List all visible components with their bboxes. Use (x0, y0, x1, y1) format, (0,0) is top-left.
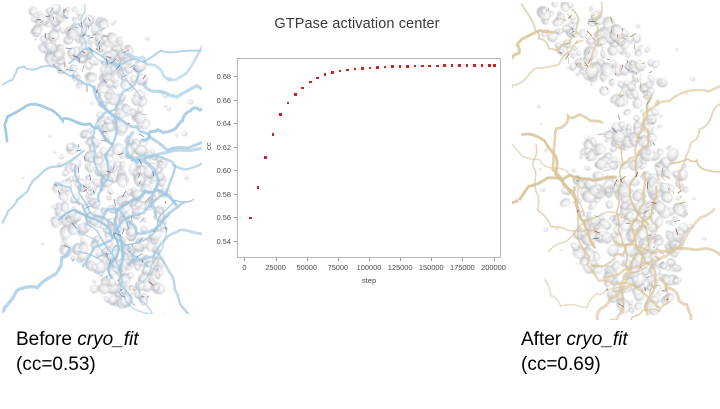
x-tick-label: 200000 (472, 263, 516, 272)
data-point (436, 65, 439, 68)
data-point (272, 133, 275, 136)
cryoem-density-map-after (512, 2, 720, 320)
data-point (406, 65, 409, 68)
data-point (361, 67, 364, 70)
density-blobs (535, 2, 707, 317)
data-point (391, 65, 394, 68)
data-point (249, 217, 252, 220)
y-tick-label: 0.60 (206, 166, 231, 175)
data-point (331, 71, 334, 74)
data-point (473, 64, 476, 67)
caption-before-prefix: Before (16, 329, 77, 350)
data-point (257, 186, 260, 189)
x-tick-mark (462, 258, 463, 261)
after-cryo-fit-structure (512, 2, 720, 320)
caption-before-cc: (cc=0.53) (16, 352, 139, 377)
data-point (294, 93, 297, 96)
y-tick-label: 0.68 (206, 72, 231, 81)
data-point (339, 70, 342, 73)
data-point (443, 64, 446, 67)
data-point (324, 73, 327, 76)
data-point (428, 65, 431, 68)
y-tick-label: 0.66 (206, 96, 231, 105)
x-tick-mark (494, 258, 495, 261)
data-point (369, 67, 372, 70)
before-cryo-fit-structure (2, 4, 202, 314)
y-tick-label: 0.56 (206, 213, 231, 222)
x-tick-mark (369, 258, 370, 261)
data-point (481, 64, 484, 67)
data-point (376, 66, 379, 69)
y-tick-label: 0.54 (206, 237, 231, 246)
caption-before-emphasis: cryo_fit (77, 329, 138, 350)
caption-before: Before cryo_fit (cc=0.53) (16, 327, 139, 377)
x-tick-mark (307, 258, 308, 261)
data-point (309, 81, 312, 84)
x-tick-mark (400, 258, 401, 261)
y-tick-label: 0.64 (206, 119, 231, 128)
data-point (421, 65, 424, 68)
data-point (458, 64, 461, 67)
data-point (301, 87, 304, 90)
data-point (493, 64, 496, 67)
data-point (316, 77, 319, 80)
data-point (287, 102, 290, 105)
y-tick-label: 0.62 (206, 143, 231, 152)
data-point (451, 64, 454, 67)
x-tick-mark (431, 258, 432, 261)
plot-area (237, 58, 501, 258)
cryoem-density-map-before (2, 4, 202, 314)
x-tick-mark (244, 258, 245, 261)
cc-vs-step-chart: GTPase activation center cc step 0.540.5… (206, 8, 508, 302)
density-blobs (22, 4, 193, 310)
x-tick-mark (276, 258, 277, 261)
data-point (414, 65, 417, 68)
data-point (354, 68, 357, 71)
data-point (488, 64, 491, 67)
x-tick-mark (338, 258, 339, 261)
caption-after: After cryo_fit (cc=0.69) (521, 327, 628, 377)
scatter-series-cc (238, 59, 500, 257)
y-tick-label: 0.58 (206, 190, 231, 199)
chart-xlabel: step (237, 276, 501, 285)
data-point (384, 66, 387, 69)
caption-after-emphasis: cryo_fit (566, 329, 627, 350)
data-point (346, 69, 349, 72)
caption-after-prefix: After (521, 329, 566, 350)
data-point (399, 65, 402, 68)
data-point (466, 64, 469, 67)
caption-after-cc: (cc=0.69) (521, 352, 628, 377)
data-point (279, 113, 282, 116)
chart-title: GTPase activation center (206, 16, 508, 32)
data-point (264, 156, 267, 159)
